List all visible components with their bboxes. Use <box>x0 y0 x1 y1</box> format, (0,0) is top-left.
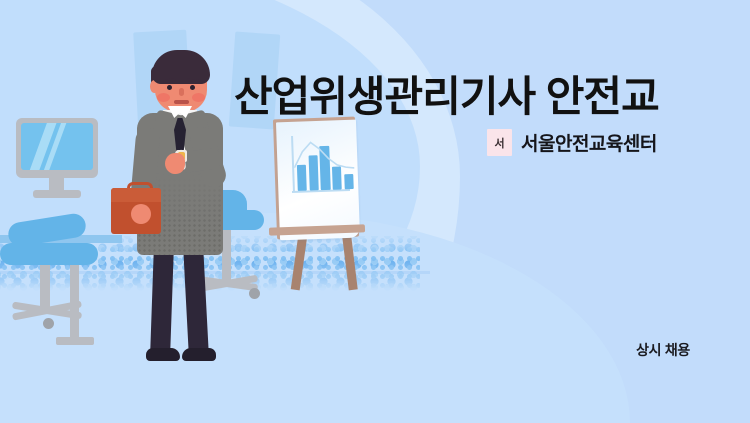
office-chair-left-wheel <box>43 318 54 329</box>
office-chair-right-post <box>222 228 231 284</box>
person-hand-left <box>131 204 151 224</box>
monitor-screen <box>21 123 93 170</box>
briefcase-flap <box>111 188 161 202</box>
monitor-stand-base <box>33 190 81 198</box>
hiring-status-label: 상시 채용 <box>636 340 690 360</box>
promo-banner: 산업위생관리기사 안전교 서 서울안전교육센터 상시 채용 <box>0 0 750 423</box>
person-shoe-right <box>182 348 216 361</box>
office-chair-left-post <box>40 263 50 311</box>
brand-name: 서울안전교육센터 <box>521 129 657 156</box>
brand-lockup: 서 서울안전교육센터 <box>487 129 657 156</box>
person-shoe-left <box>146 348 180 361</box>
office-chair-left-seat <box>0 243 98 265</box>
brand-badge-icon: 서 <box>487 129 512 156</box>
person-mouth <box>174 100 189 104</box>
person-blush-left <box>157 93 170 102</box>
person-hair <box>152 50 210 84</box>
chart-trend-curve <box>293 137 354 179</box>
office-chair-right-wheel <box>249 288 260 299</box>
person-hand-right <box>165 153 185 174</box>
person-nose <box>179 88 184 96</box>
person-eye-left <box>167 85 172 90</box>
person-leg-left <box>150 245 174 358</box>
person-eye-right <box>190 85 195 90</box>
person-blush-right <box>192 93 205 102</box>
page-title: 산업위생관리기사 안전교 <box>234 73 704 120</box>
desk-foot <box>56 337 94 345</box>
